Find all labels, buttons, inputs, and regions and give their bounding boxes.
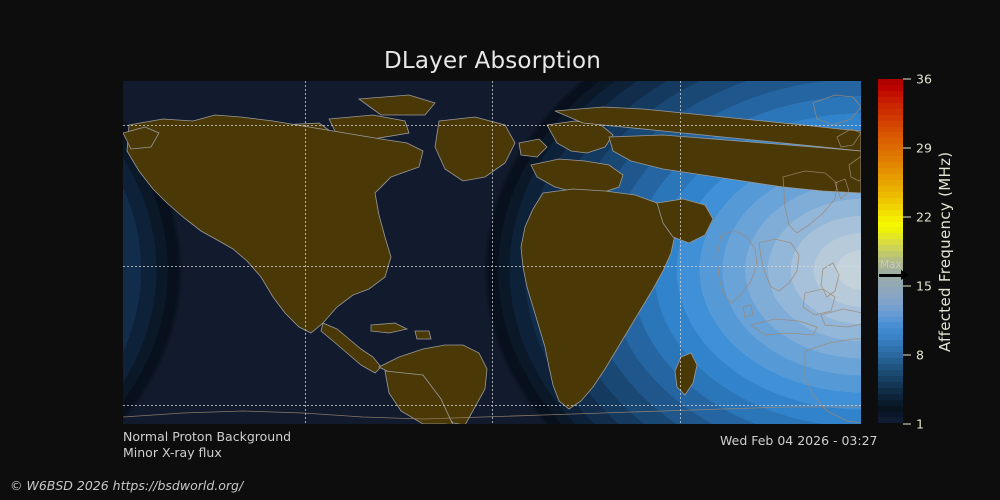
colorbar-segment bbox=[878, 417, 903, 423]
tick-dash-icon bbox=[903, 216, 911, 218]
proton-background-note: Normal Proton Background bbox=[123, 429, 291, 445]
tick-dash-icon bbox=[903, 354, 911, 356]
coastline-layer bbox=[123, 81, 861, 424]
colorbar[interactable] bbox=[878, 79, 903, 424]
tick-dash-icon bbox=[903, 423, 911, 425]
timestamp: Wed Feb 04 2026 - 03:27 bbox=[720, 433, 878, 448]
tick-label: 1 bbox=[916, 417, 924, 432]
tick-dash-icon bbox=[903, 285, 911, 287]
arrow-right-icon bbox=[878, 270, 910, 281]
colorbar-tick-36: 36 bbox=[903, 72, 932, 87]
page-title: DLayer Absorption bbox=[0, 48, 985, 74]
colorbar-axis-label: Affected Frequency (MHz) bbox=[930, 79, 960, 424]
xray-flux-note: Minor X-ray flux bbox=[123, 445, 291, 461]
dlayer-absorption-map-page: DLayer Absorption bbox=[0, 0, 1000, 500]
colorbar-tick-29: 29 bbox=[903, 141, 932, 156]
land-night-group bbox=[123, 95, 861, 424]
tick-label: 8 bbox=[916, 348, 924, 363]
colorbar-tick-1: 1 bbox=[903, 417, 924, 432]
colorbar-max-label: Max bbox=[878, 260, 910, 270]
colorbar-max-marker: Max bbox=[878, 260, 910, 281]
tick-dash-icon bbox=[903, 78, 911, 80]
colorbar-tick-22: 22 bbox=[903, 210, 932, 225]
tick-dash-icon bbox=[903, 147, 911, 149]
copyright-notice: © W6BSD 2026 https://bsdworld.org/ bbox=[10, 478, 243, 493]
world-map[interactable] bbox=[123, 81, 861, 424]
status-notes: Normal Proton Background Minor X-ray flu… bbox=[123, 429, 291, 461]
colorbar-tick-8: 8 bbox=[903, 348, 924, 363]
